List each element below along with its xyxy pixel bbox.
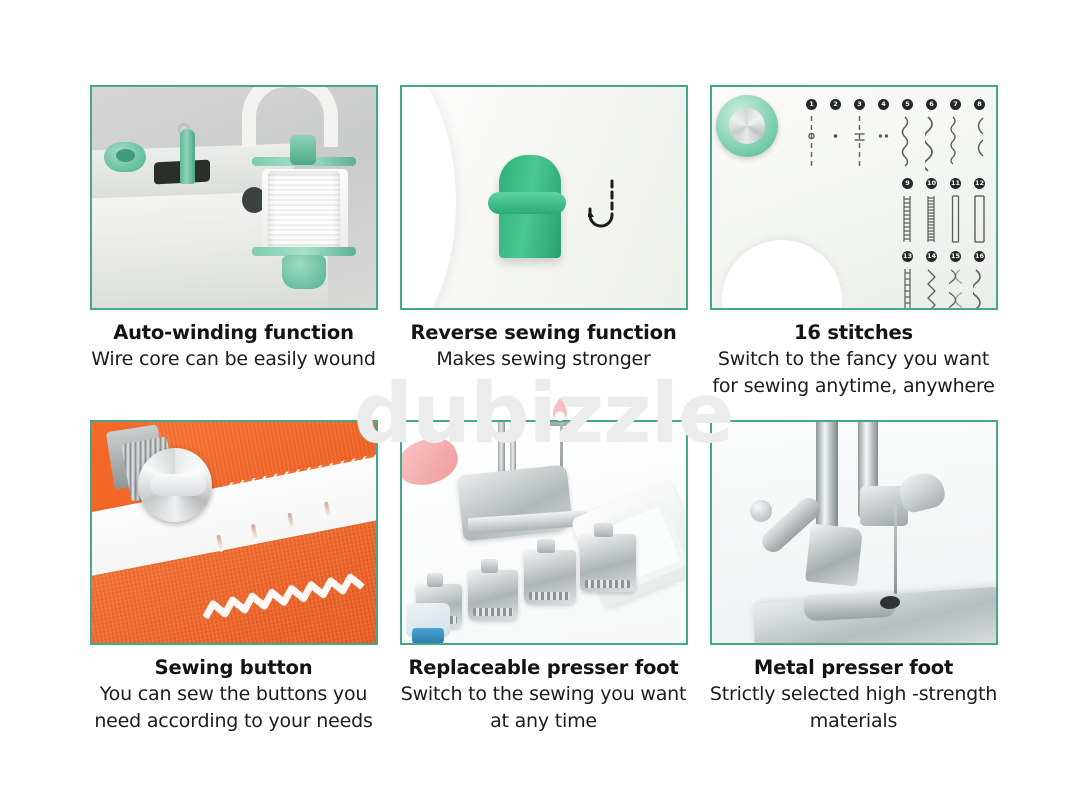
feature-card-metal-presser-foot: Metal presser foot Strictly selected hig… [710, 420, 998, 735]
stitch-glyph-straight-cross [853, 114, 866, 172]
stitch-item: 14 [920, 251, 944, 310]
stitch-glyph-zigzag-narrow [901, 114, 914, 172]
stitch-row-2: 9 10 [896, 178, 992, 245]
auto-winding-bobbin-photo [90, 85, 378, 310]
stitch-item: 10 [920, 178, 944, 245]
stitch-glyph-ladder [901, 266, 914, 310]
stitch-number: 15 [950, 251, 961, 262]
stitch-item: 15 [944, 251, 968, 310]
stitch-item: 2 [824, 99, 848, 172]
caption-metal-presser-foot: Metal presser foot Strictly selected hig… [710, 656, 998, 735]
metal-presser-foot-closeup [104, 428, 208, 534]
presser-foot-set-photo [400, 420, 688, 645]
caption-sewing-button: Sewing button You can sew the buttons yo… [90, 656, 378, 735]
feature-title: Auto-winding function [90, 321, 378, 345]
stitch-number: 12 [974, 178, 985, 189]
stitch-item: 6 [920, 99, 944, 172]
feature-description: Wire core can be easily wound [90, 346, 378, 373]
feature-description: Strictly selected high -strength materia… [710, 681, 998, 735]
stitch-glyph-buttonhole-wide [973, 193, 986, 245]
metal-presser-foot-photo [710, 420, 998, 645]
stitch-item: 3 [848, 99, 872, 172]
stitch-number: 1 [806, 99, 817, 110]
stitch-item: 13 [896, 251, 920, 310]
reverse-lever-photo [400, 85, 688, 310]
stitch-number: 11 [950, 178, 961, 189]
stitch-item: 16 [968, 251, 992, 310]
stitch-glyph-wave [973, 266, 986, 310]
stitch-item: 4 [872, 99, 896, 172]
feature-row-bottom: Sewing button You can sew the buttons yo… [0, 420, 1087, 735]
stitch-number: 10 [926, 178, 937, 189]
caption-reverse-sewing: Reverse sewing function Makes sewing str… [400, 321, 688, 373]
feature-card-auto-winding: Auto-winding function Wire core can be e… [90, 85, 378, 400]
stitch-number: 16 [974, 251, 985, 262]
feature-title: Reverse sewing function [400, 321, 688, 345]
feature-title: Sewing button [90, 656, 378, 680]
feature-card-sewing-button: Sewing button You can sew the buttons yo… [90, 420, 378, 735]
feature-card-replaceable-presser-foot: Replaceable presser foot Switch to the s… [400, 420, 688, 735]
caption-16-stitches: 16 stitches Switch to the fancy you want… [710, 321, 998, 400]
stitch-number: 6 [926, 99, 937, 110]
stitch-number: 3 [854, 99, 865, 110]
stitch-glyph-buttonhole-plain [949, 193, 962, 245]
caption-auto-winding: Auto-winding function Wire core can be e… [90, 321, 378, 373]
stitch-item: 9 [896, 178, 920, 245]
feature-row-top: Auto-winding function Wire core can be e… [0, 85, 1087, 400]
stitch-glyph-straight [805, 114, 818, 172]
stitch-glyph-zigzag-wide [925, 114, 938, 172]
stitch-glyph-buttonhole-narrow [901, 193, 914, 245]
feature-title: Metal presser foot [710, 656, 998, 680]
stitch-glyph-double-zigzag [949, 266, 962, 310]
caption-replaceable-presser-foot: Replaceable presser foot Switch to the s… [400, 656, 688, 735]
stitch-item: 11 [944, 178, 968, 245]
product-feature-infographic: dubizzle [0, 0, 1087, 800]
feature-card-reverse-sewing: Reverse sewing function Makes sewing str… [400, 85, 688, 400]
stitch-number: 13 [902, 251, 913, 262]
reverse-arrow-icon [588, 179, 620, 241]
stitch-glyph-cross-zigzag [925, 266, 938, 310]
stitch-item: 5 [896, 99, 920, 172]
stitch-number: 4 [878, 99, 889, 110]
stitch-pattern-chart: 1 2 [800, 99, 992, 310]
stitch-number: 8 [974, 99, 985, 110]
sewing-button-orange-fabric-photo [90, 420, 378, 645]
feature-description: Switch to the sewing you want at any tim… [400, 681, 688, 735]
feature-description: You can sew the buttons you need accordi… [90, 681, 378, 735]
stitch-item: 8 [968, 99, 992, 172]
stitch-glyph-zigzag-dense [949, 114, 962, 172]
stitch-number: 7 [950, 99, 961, 110]
stitch-item: 7 [944, 99, 968, 172]
stitch-item: 1 [800, 99, 824, 172]
stitch-number: 2 [830, 99, 841, 110]
stitch-number: 9 [902, 178, 913, 189]
stitch-row-3: 13 14 [896, 251, 992, 310]
stitch-glyph-dot [829, 114, 842, 172]
stitch-glyph-arc [973, 114, 986, 172]
stitch-row-1: 1 2 [800, 99, 992, 172]
stitch-number: 14 [926, 251, 937, 262]
stitch-selector-dial [716, 95, 778, 157]
stitch-item: 12 [968, 178, 992, 245]
stitch-glyph-buttonhole-dense [925, 193, 938, 245]
feature-title: Replaceable presser foot [400, 656, 688, 680]
feature-description: Switch to the fancy you want for sewing … [710, 346, 998, 400]
feature-description: Makes sewing stronger [400, 346, 688, 373]
stitch-glyph-double-dot [877, 114, 890, 172]
feature-title: 16 stitches [710, 321, 998, 345]
feature-card-16-stitches: 1 2 [710, 85, 998, 400]
stitch-selector-dial-photo: 1 2 [710, 85, 998, 310]
stitch-number: 5 [902, 99, 913, 110]
